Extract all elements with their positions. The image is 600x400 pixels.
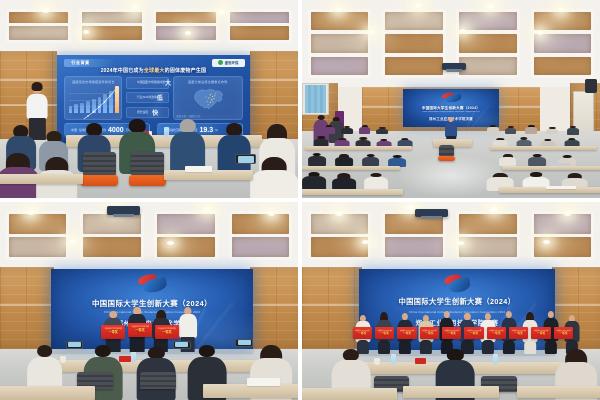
ceiling-downlight: [167, 241, 174, 245]
smartphone[interactable]: [235, 154, 256, 164]
ceiling-coffer: [230, 12, 290, 25]
award-banner: 中国国际大学生创新大赛一等奖: [397, 327, 416, 339]
award-banner: 中国国际大学生创新大赛一等奖: [487, 327, 506, 339]
chair: [131, 152, 164, 188]
student-desk: [517, 386, 600, 398]
ceiling-coffer: [156, 12, 216, 25]
photo-top-right[interactable]: 中国国际大学生创新大赛（2024） China International Co…: [302, 0, 600, 198]
wood-wall-right: [250, 267, 298, 350]
slide-brand-logo: 盛世环保: [212, 59, 245, 67]
water-bottle: [164, 127, 169, 137]
slide-stat-row: 行业ADS渗透率 低: [126, 92, 169, 103]
ceiling-coffer: [385, 237, 442, 257]
audience-member-front: [332, 174, 356, 189]
student-desk: [302, 189, 403, 195]
ceiling-downlight: [564, 211, 571, 216]
audience-member-front: [365, 173, 389, 189]
ceiling-coffer: [534, 214, 591, 234]
ceiling-coffer: [232, 214, 289, 234]
competition-logo-icon: [442, 273, 472, 293]
ceiling-downlight: [335, 211, 343, 216]
audience-member: [170, 119, 206, 172]
audience-member: [323, 125, 335, 133]
ceiling-downlight: [490, 207, 498, 212]
china-map-svg: [179, 85, 237, 112]
audience-member: [526, 125, 538, 133]
ceiling-coffer: [9, 237, 66, 257]
smartphone[interactable]: [235, 339, 253, 347]
ceiling-coffer: [83, 237, 140, 257]
screen-title-cn: 中国国际大学生创新大赛（2024）: [51, 298, 254, 309]
ceiling: [0, 202, 298, 269]
screen-title-cn: 中国国际大学生创新大赛（2024）: [403, 106, 498, 111]
ceiling-coffer: [9, 12, 69, 25]
brand-dot-icon: [218, 60, 223, 65]
ceiling-downlight: [27, 210, 35, 215]
chair: [140, 372, 176, 400]
china-map: [179, 85, 237, 112]
ceiling-coffer: [459, 214, 516, 234]
award-banner: 中国国际大学生创新大赛 一等奖: [128, 323, 152, 337]
paper-sheet: [546, 186, 576, 189]
ceiling-downlight: [185, 31, 191, 35]
phone-screen: [175, 342, 188, 347]
ceiling-projector: [107, 206, 140, 215]
ceiling: [302, 202, 600, 269]
ceiling-projector: [415, 209, 448, 218]
phone-screen: [68, 342, 81, 347]
audience-member: [362, 154, 380, 166]
audience-member-front: [250, 158, 298, 198]
student-desk: [490, 146, 597, 150]
student-desk: [502, 166, 600, 171]
ceiling-downlight: [457, 241, 464, 245]
water-bottle: [493, 354, 498, 364]
student-desk: [203, 384, 298, 398]
chair-back: [131, 152, 164, 174]
award-banner: 中国国际大学生创新大赛一等奖: [442, 327, 461, 339]
award-banner: 中国国际大学生创新大赛 一等奖: [155, 325, 179, 339]
audience-member: [546, 127, 558, 135]
award-banner: 中国国际大学生创新大赛一等奖: [554, 327, 573, 339]
lecture-room: 中国国际大学生创新大赛（2024） China International Co…: [0, 202, 298, 400]
chair: [83, 152, 116, 188]
student-desk: [305, 146, 412, 150]
ceiling-coffer: [232, 237, 289, 257]
ceiling-coffer: [82, 12, 142, 25]
award-banner: 中国国际大学生创新大赛一等奖: [531, 327, 550, 339]
ceiling-coffer: [311, 214, 368, 234]
competition-logo-icon: [441, 92, 462, 104]
ceiling-coffer: [534, 57, 591, 76]
slide-stat-row: 增长速度 快: [126, 107, 169, 118]
ceiling-projector: [442, 63, 466, 70]
audience-member: [335, 154, 353, 165]
audience-member: [388, 155, 406, 166]
paper-sheet: [185, 166, 212, 172]
chair-back: [83, 152, 116, 174]
award-banner: 中国国际大学生创新大赛 一等奖: [101, 325, 125, 339]
ceiling: [0, 0, 298, 51]
window-curtain: [305, 85, 326, 113]
audience-member: [359, 125, 371, 133]
lecture-room: 行业背景 盛世环保 2024年中国已成为全球最大的固体废物产生国 固废综合市场规…: [0, 0, 298, 198]
audience-member: [377, 127, 389, 135]
audience-member: [499, 154, 517, 165]
slide-chart-panel: 固废综合市场规模逐年新增长: [64, 76, 122, 120]
audience-member: [487, 125, 499, 133]
audience-member: [528, 154, 546, 166]
ceiling-coffer: [83, 214, 140, 234]
wood-wall-left: [0, 267, 54, 350]
ceiling-downlight: [362, 240, 369, 244]
ceiling-coffer: [534, 34, 591, 53]
ceiling-coffer: [9, 214, 66, 234]
ceiling-coffer: [311, 12, 368, 31]
photo-bottom-right[interactable]: 中国国际大学生创新大赛（2024） China International Co…: [302, 202, 600, 400]
ceiling-coffer: [534, 12, 591, 31]
lecture-room: 中国国际大学生创新大赛（2024） China International Co…: [302, 0, 600, 198]
student-desk: [0, 386, 95, 400]
competition-logo-icon: [136, 274, 168, 295]
ceiling-coffer: [157, 237, 214, 257]
ceiling-downlight: [218, 9, 225, 14]
ceiling-coffer: [385, 12, 442, 31]
ceiling-coffer: [311, 237, 368, 257]
water-bottle: [391, 354, 396, 364]
audience-member-front: [302, 172, 326, 189]
audience-member: [314, 136, 329, 146]
audience-member: [505, 126, 517, 134]
award-banner: 中国国际大学生创新大赛一等奖: [375, 327, 394, 339]
student-desk: [0, 174, 83, 184]
screen-title-cn: 中国国际大学生创新大赛（2024）: [359, 297, 556, 307]
chair-back: [140, 372, 176, 389]
slide-section-tag: 行业背景: [64, 59, 114, 67]
paper-sheet: [247, 378, 280, 386]
smartphone[interactable]: [66, 341, 84, 349]
ceiling-coffer: [459, 57, 516, 76]
photo-top-left[interactable]: 行业背景 盛世环保 2024年中国已成为全球最大的固体废物产生国 固废综合市场规…: [0, 0, 298, 198]
audience-member: [567, 126, 579, 134]
ceiling: [302, 0, 600, 87]
audience-member: [218, 123, 251, 173]
ceiling-coffer: [82, 26, 142, 39]
screen-title-en: China International College Students' In…: [403, 111, 498, 113]
ceiling-coffer: [459, 237, 516, 257]
chair-seat: [81, 175, 118, 186]
slide-stat-row: 中国固废市场规模体量 大: [126, 77, 169, 88]
student-desk: [302, 388, 397, 400]
ceiling-downlight: [558, 8, 564, 12]
ceiling-coffer: [385, 34, 442, 53]
ceiling-coffer: [534, 237, 591, 257]
smartphone[interactable]: [173, 341, 191, 349]
ceiling-coffer: [311, 34, 368, 53]
ceiling-downlight: [335, 7, 342, 12]
laptop[interactable]: [549, 163, 570, 166]
ceiling-downlight: [460, 29, 466, 33]
ceiling-coffer: [157, 214, 214, 234]
student-desk: [302, 166, 400, 171]
red-box: [415, 358, 426, 364]
photo-bottom-left[interactable]: 中国国际大学生创新大赛（2024） China International Co…: [0, 202, 298, 400]
ceiling-coffer: [9, 26, 69, 39]
slide-headline: 2024年中国已成为全球最大的固体废物产生国: [57, 67, 251, 74]
paper-cup: [374, 358, 380, 365]
award-banner: 中国国际大学生创新大赛一等奖: [353, 327, 372, 339]
ceiling-coffer: [459, 12, 516, 31]
award-banner: 中国国际大学生创新大赛一等奖: [420, 327, 439, 339]
ceiling-coffer: [311, 57, 368, 76]
bar-chart: [69, 86, 119, 113]
wall-speaker: [585, 79, 597, 93]
ceiling-coffer: [230, 26, 290, 39]
student-desk: [403, 386, 498, 398]
ceiling-downlight: [543, 240, 550, 244]
award-banner: 中国国际大学生创新大赛一等奖: [509, 327, 528, 339]
ceiling-coffer: [385, 57, 442, 76]
photo-collage: 行业背景 盛世环保 2024年中国已成为全球最大的固体废物产生国 固废综合市场规…: [0, 0, 600, 400]
audience-member: [341, 126, 353, 134]
audience-member: [308, 153, 326, 165]
ceiling-downlight: [69, 240, 76, 244]
chair-seat: [129, 175, 166, 186]
phone-screen: [238, 340, 251, 345]
phone-screen: [238, 156, 254, 163]
water-bottle: [131, 352, 136, 362]
slide-map-panel: 固废分类设施全国重点布局: [173, 76, 243, 120]
chart-trend-line: [69, 86, 119, 119]
ceiling-coffer: [459, 34, 516, 53]
audience-area: [302, 123, 600, 198]
lecture-room: 中国国际大学生创新大赛（2024） China International Co…: [302, 202, 600, 400]
award-banner: 中国国际大学生创新大赛一等奖: [464, 327, 483, 339]
